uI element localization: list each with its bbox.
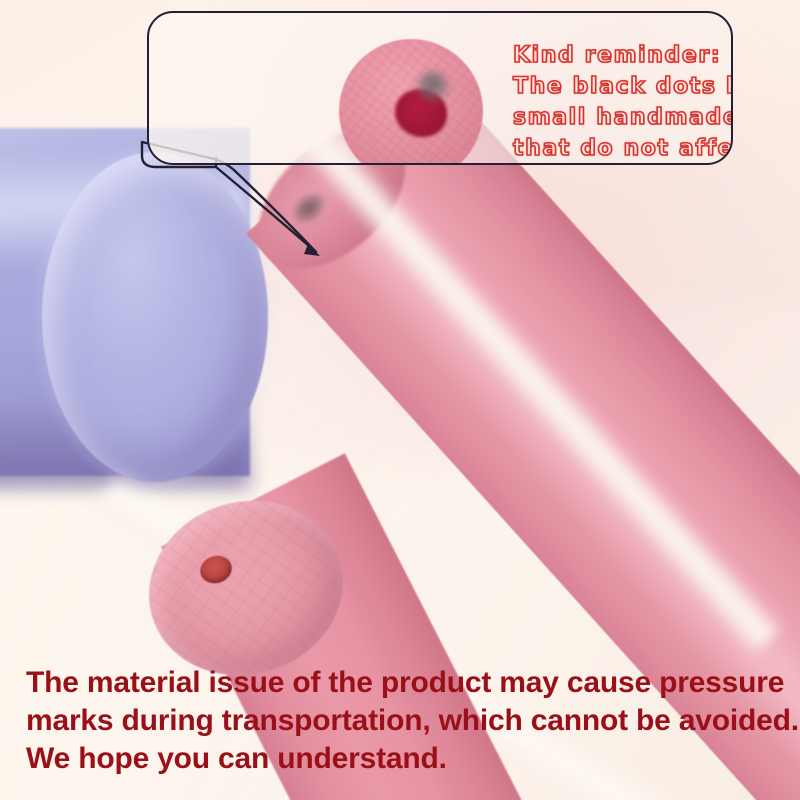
product-notice-image: Kind reminder: The black dots here are s… [0, 0, 800, 800]
inset-photo-black-dot [417, 71, 449, 101]
caption-line-3: We hope you can understand. [26, 740, 782, 778]
bubble-line-4: that do not affect usage [513, 133, 733, 164]
inset-product-photo [339, 39, 483, 165]
bubble-line-3: small handmade marks [513, 102, 733, 133]
caption-block: The material issue of the product may ca… [26, 664, 782, 778]
blue-cylinder-end-cap [42, 152, 268, 482]
caption-line-2: marks during transportation, which canno… [26, 702, 782, 740]
bubble-line-2: The black dots here are [513, 71, 733, 102]
caption-line-1: The material issue of the product may ca… [26, 664, 782, 702]
speech-bubble: Kind reminder: The black dots here are s… [147, 11, 733, 165]
bubble-line-1: Kind reminder: [513, 40, 733, 71]
bubble-text-block: Kind reminder: The black dots here are s… [513, 40, 733, 164]
